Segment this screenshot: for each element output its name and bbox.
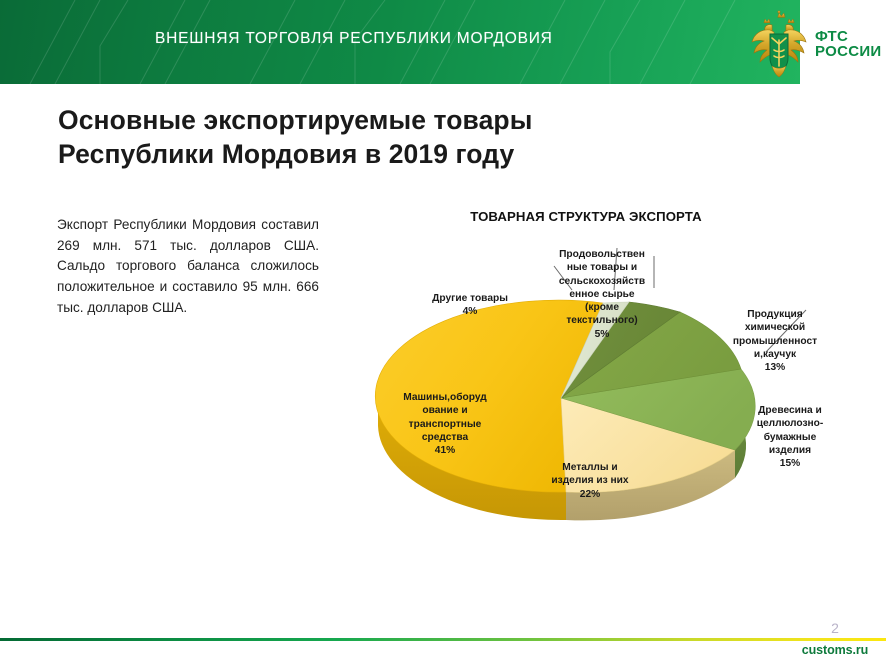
pie-label-metal-value: 22% <box>524 488 656 501</box>
pie-label-other: Другие товары 4% <box>412 292 528 319</box>
page-header: ВНЕШНЯЯ ТОРГОВЛЯ РЕСПУБЛИКИ МОРДОВИЯ <box>0 0 886 84</box>
pie-label-other-value: 4% <box>412 305 528 318</box>
pie-label-wood-l2: целлюлозно- <box>730 417 850 430</box>
pie-label-chem-l1: Продукция <box>712 308 838 321</box>
pie-label-mach-value: 41% <box>384 444 506 457</box>
logo-line-1: ФТС <box>815 29 882 44</box>
pie-label-metal-l1: Металлы и <box>524 461 656 474</box>
fts-logo-text: ФТС РОССИИ <box>815 29 882 60</box>
pie-label-food-value: 5% <box>540 328 664 341</box>
pie-label-wood: Древесина и целлюлозно- бумажные изделия… <box>730 404 850 470</box>
intro-paragraph: Экспорт Республики Мордовия составил 269… <box>57 215 319 318</box>
footer-gradient-rule <box>0 638 886 641</box>
pie-label-food-l4: енное сырье <box>540 288 664 301</box>
page-title: Основные экспортируемые товары Республик… <box>58 103 708 172</box>
double-headed-eagle-emblem-icon <box>748 10 810 78</box>
pie-label-other-l1: Другие товары <box>412 292 528 305</box>
pie-label-wood-value: 15% <box>730 457 850 470</box>
pie-label-chem-l2: химической <box>712 321 838 334</box>
pie-label-wood-l4: изделия <box>730 444 850 457</box>
pie-label-food: Продовольствен ные товары и сельскохозяй… <box>540 248 664 341</box>
pie-label-wood-l3: бумажные <box>730 431 850 444</box>
pie-label-chem-l4: и,каучук <box>712 348 838 361</box>
page-title-line-1: Основные экспортируемые товары <box>58 103 708 137</box>
pie-label-mach-l4: средства <box>384 431 506 444</box>
pie-label-chemicals: Продукция химической промышленност и,кау… <box>712 308 838 374</box>
pie-label-chem-l3: промышленност <box>712 335 838 348</box>
page-number: 2 <box>820 620 850 636</box>
pie-label-metals: Металлы и изделия из них 22% <box>524 461 656 501</box>
pie-label-food-l2: ные товары и <box>540 261 664 274</box>
logo-line-2: РОССИИ <box>815 44 882 59</box>
pie-label-mach-l1: Машины,оборуд <box>384 391 506 404</box>
header-banner-title: ВНЕШНЯЯ ТОРГОВЛЯ РЕСПУБЛИКИ МОРДОВИЯ <box>155 30 553 48</box>
pie-label-wood-l1: Древесина и <box>730 404 850 417</box>
pie-label-food-l5: (кроме <box>540 301 664 314</box>
pie-label-chem-value: 13% <box>712 361 838 374</box>
pie-label-food-l1: Продовольствен <box>540 248 664 261</box>
pie-label-food-l6: текстильного) <box>540 314 664 327</box>
pie-label-machines: Машины,оборуд ование и транспортные сред… <box>384 391 506 457</box>
customs-site-label: customs.ru <box>792 643 878 657</box>
chart-title: ТОВАРНАЯ СТРУКТУРА ЭКСПОРТА <box>430 209 742 224</box>
pie-label-mach-l2: ование и <box>384 404 506 417</box>
pie-label-mach-l3: транспортные <box>384 418 506 431</box>
fts-russia-logo: ФТС РОССИИ <box>748 8 886 80</box>
pie-label-food-l3: сельскохозяйств <box>540 275 664 288</box>
pie-label-metal-l2: изделия из них <box>524 474 656 487</box>
page-title-line-2: Республики Мордовия в 2019 году <box>58 137 708 171</box>
